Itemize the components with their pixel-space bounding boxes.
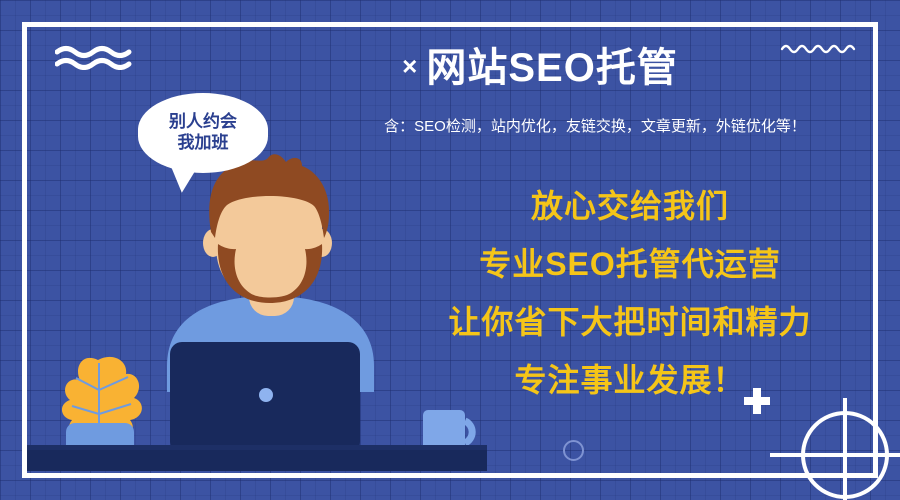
speech-bubble-text: 别人约会 我加班 [169,112,237,153]
selling-point: 让你省下大把时间和精力 [380,306,880,338]
selling-points: 放心交给我们 专业SEO托管代运营 让你省下大把时间和精力 专注事业发展！ [380,190,880,396]
selling-point: 放心交给我们 [380,190,880,222]
mouth [243,264,297,282]
seo-hosting-poster: 别人约会 我加班 ×网站SEO托管 含：SEO检测，站内优化，友链交换，文章更新… [0,0,900,500]
page-title: ×网站SEO托管 [330,46,750,90]
selling-point: 专业SEO托管代运营 [380,248,880,280]
desk [27,450,487,471]
laptop-icon [170,342,360,454]
title-mark: × [402,51,418,81]
speech-bubble: 别人约会 我加班 [138,93,268,173]
title-text: 网站SEO托管 [426,46,677,90]
page-subtitle: 含：SEO检测，站内优化，友链交换，文章更新，外链优化等！ [300,117,890,137]
selling-point: 专注事业发展！ [380,364,880,396]
potted-plant-icon [62,357,142,456]
